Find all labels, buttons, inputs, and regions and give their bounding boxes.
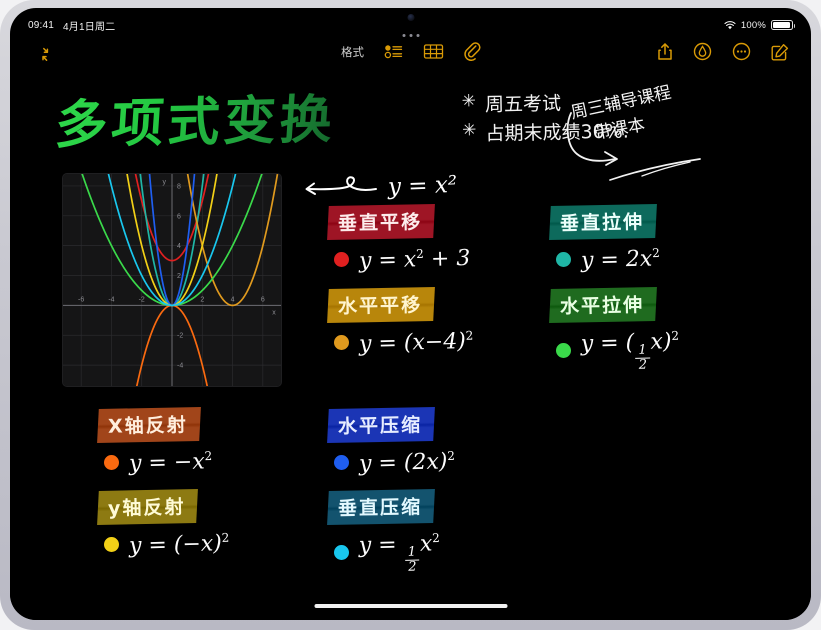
card-equation: y = (12x)2 — [580, 329, 679, 373]
status-bar-right: 100% — [724, 20, 793, 31]
svg-text:-2: -2 — [139, 296, 145, 303]
card-band: 水平平移 — [327, 287, 435, 323]
color-dot — [334, 455, 349, 470]
card-vertical-shift[interactable]: 垂直平移 y = x2 + 3 — [328, 205, 470, 272]
paperclip-icon[interactable] — [463, 42, 480, 61]
card-band: 水平拉伸 — [549, 287, 657, 323]
card-equation-row: y = 2x2 — [550, 247, 660, 272]
format-button[interactable]: 格式 — [341, 44, 364, 60]
graph-svg: -6-4-2246-4-22468xy — [63, 174, 281, 386]
card-equation-row: y = x2 + 3 — [328, 247, 470, 272]
svg-text:-6: -6 — [78, 296, 84, 303]
card-equation: y = 12x2 — [358, 531, 440, 575]
card-horizontal-stretch[interactable]: 水平拉伸 y = (12x)2 — [550, 288, 679, 372]
color-dot — [104, 455, 119, 470]
status-time: 09:41 — [28, 20, 54, 31]
card-band: 垂直压缩 — [327, 489, 435, 525]
svg-text:x: x — [272, 309, 276, 316]
card-heading: 垂直拉伸 — [560, 207, 645, 236]
more-options-icon[interactable] — [732, 42, 751, 61]
card-heading: y轴反射 — [108, 492, 186, 520]
card-vertical-stretch[interactable]: 垂直拉伸 y = 2x2 — [550, 205, 660, 272]
app-toolbar: 格式 — [10, 38, 811, 72]
base-equation-label: y = x² — [388, 171, 458, 199]
card-x-axis-reflection[interactable]: X轴反射 y = −x2 — [98, 408, 212, 475]
card-equation-row: y = (−x)2 — [98, 532, 230, 557]
color-dot — [104, 537, 119, 552]
card-equation: y = −x2 — [129, 449, 213, 477]
multitask-handle[interactable] — [402, 34, 419, 37]
battery-percent-label: 100% — [741, 20, 766, 31]
card-heading: X轴反射 — [108, 410, 188, 438]
ipad-screen: 09:41 4月1日周二 100% 格式 — [10, 8, 811, 620]
svg-text:6: 6 — [177, 213, 181, 220]
svg-text:8: 8 — [177, 183, 181, 190]
card-heading: 垂直平移 — [338, 207, 423, 236]
card-equation-row: y = (x−4)2 — [328, 330, 474, 355]
curved-arrow-icon — [300, 170, 378, 201]
card-band: 垂直拉伸 — [549, 204, 657, 240]
asterisk-icon: ✳ — [462, 91, 477, 112]
memo-text: 周五考试 — [485, 90, 562, 120]
card-equation: y = (−x)2 — [129, 531, 230, 559]
card-equation: y = (2x)2 — [359, 449, 456, 477]
note-title: 多项式变换 — [53, 77, 338, 158]
share-icon[interactable] — [657, 42, 673, 61]
battery-icon — [771, 20, 793, 30]
svg-text:4: 4 — [231, 296, 235, 303]
color-dot — [556, 343, 571, 358]
toolbar-center-group: 格式 — [341, 42, 480, 61]
asterisk-icon: ✳ — [462, 120, 477, 141]
card-equation-row: y = (2x)2 — [328, 450, 455, 475]
collapse-arrows-icon[interactable] — [34, 46, 51, 63]
table-icon[interactable] — [423, 43, 443, 60]
card-heading: 水平压缩 — [338, 410, 423, 439]
reminder-underline — [608, 158, 704, 189]
svg-text:-4: -4 — [177, 363, 183, 370]
color-dot — [334, 335, 349, 350]
wifi-icon — [724, 21, 736, 30]
status-bar: 09:41 4月1日周二 100% — [10, 16, 811, 34]
base-function-callout: y = x² — [300, 170, 457, 201]
checklist-icon[interactable] — [384, 43, 403, 60]
card-band: 水平压缩 — [327, 407, 435, 443]
card-band: X轴反射 — [97, 407, 200, 443]
svg-text:6: 6 — [261, 296, 265, 303]
card-heading: 垂直压缩 — [338, 492, 423, 521]
card-heading: 水平拉伸 — [560, 290, 645, 319]
svg-text:-4: -4 — [108, 296, 114, 303]
color-dot — [556, 252, 571, 267]
card-heading: 水平平移 — [338, 290, 423, 319]
svg-text:y: y — [163, 179, 167, 186]
status-date: 4月1日周二 — [63, 18, 115, 33]
card-horizontal-shift[interactable]: 水平平移 y = (x−4)2 — [328, 288, 474, 355]
card-band: y轴反射 — [97, 489, 198, 525]
card-equation: y = x2 + 3 — [359, 246, 471, 274]
parabola-graph[interactable]: -6-4-2246-4-22468xy — [63, 174, 281, 386]
card-equation-row: y = 12x2 — [328, 532, 440, 574]
card-y-axis-reflection[interactable]: y轴反射 y = (−x)2 — [98, 490, 230, 557]
svg-text:2: 2 — [177, 273, 181, 280]
markup-pen-icon[interactable] — [693, 42, 712, 61]
card-equation: y = 2x2 — [581, 246, 661, 273]
svg-text:2: 2 — [200, 296, 204, 303]
svg-text:4: 4 — [177, 243, 181, 250]
svg-text:-2: -2 — [177, 333, 183, 340]
card-horizontal-compression[interactable]: 水平压缩 y = (2x)2 — [328, 408, 455, 475]
color-dot — [334, 545, 349, 560]
card-band: 垂直平移 — [327, 204, 435, 240]
card-vertical-compression[interactable]: 垂直压缩 y = 12x2 — [328, 490, 440, 574]
card-equation: y = (x−4)2 — [359, 329, 474, 357]
card-equation-row: y = −x2 — [98, 450, 212, 475]
card-equation-row: y = (12x)2 — [550, 330, 679, 372]
ipad-device-frame: 09:41 4月1日周二 100% 格式 — [0, 0, 821, 630]
note-canvas[interactable]: 多项式变换 ✳ 周五考试 ✳ 占期末成绩30%. — [10, 70, 811, 620]
toolbar-right-group — [657, 42, 789, 61]
home-indicator[interactable] — [314, 604, 507, 609]
color-dot — [334, 252, 349, 267]
compose-icon[interactable] — [771, 43, 789, 61]
status-bar-left: 09:41 4月1日周二 — [28, 18, 115, 33]
